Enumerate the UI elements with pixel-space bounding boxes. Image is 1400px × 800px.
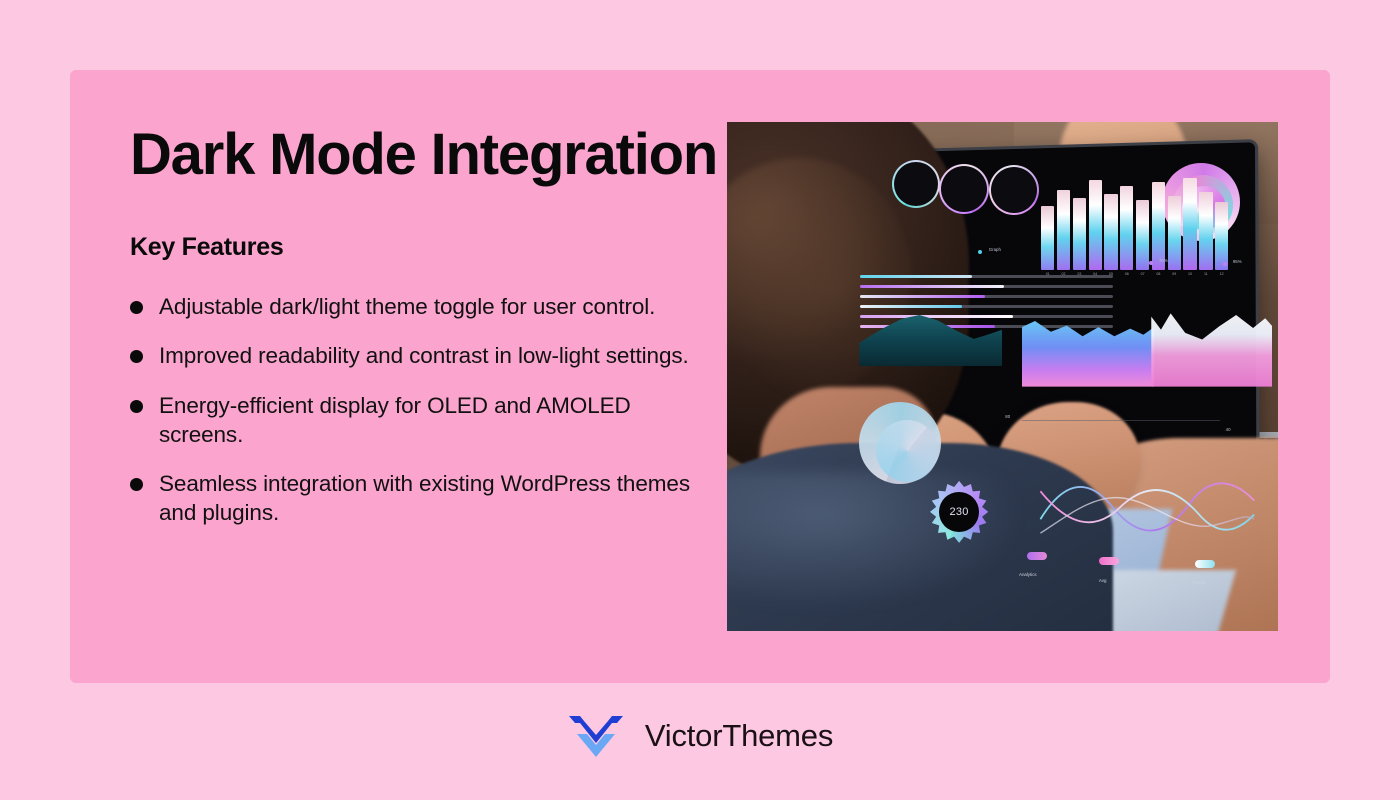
card-text-column: Dark Mode Integration Key Features Adjus…	[130, 118, 750, 548]
list-item-label: Improved readability and contrast in low…	[159, 341, 689, 370]
list-item: Improved readability and contrast in low…	[130, 341, 750, 370]
page-title: Dark Mode Integration	[130, 118, 750, 191]
list-item: Energy-efficient display for OLED and AM…	[130, 391, 750, 450]
brand-name: VictorThemes	[645, 718, 833, 754]
bullet-icon	[130, 478, 143, 491]
person-shirt	[727, 443, 1113, 631]
section-heading: Key Features	[130, 233, 750, 262]
list-item: Adjustable dark/light theme toggle for u…	[130, 292, 750, 321]
list-item: Seamless integration with existing WordP…	[130, 469, 750, 528]
bullet-icon	[130, 301, 143, 314]
feature-card: Dark Mode Integration Key Features Adjus…	[70, 70, 1330, 683]
key-features-list: Adjustable dark/light theme toggle for u…	[130, 292, 750, 528]
bullet-icon	[130, 400, 143, 413]
bullet-icon	[130, 350, 143, 363]
list-item-label: Adjustable dark/light theme toggle for u…	[159, 292, 655, 321]
victorthemes-logo-icon	[567, 712, 625, 760]
list-item-label: Seamless integration with existing WordP…	[159, 469, 704, 528]
list-item-label: Energy-efficient display for OLED and AM…	[159, 391, 704, 450]
footer-brand: VictorThemes	[0, 712, 1400, 760]
hero-photo: 01 02 03 04 05 06 07 08 09 10 11 12 Grap…	[727, 122, 1278, 631]
